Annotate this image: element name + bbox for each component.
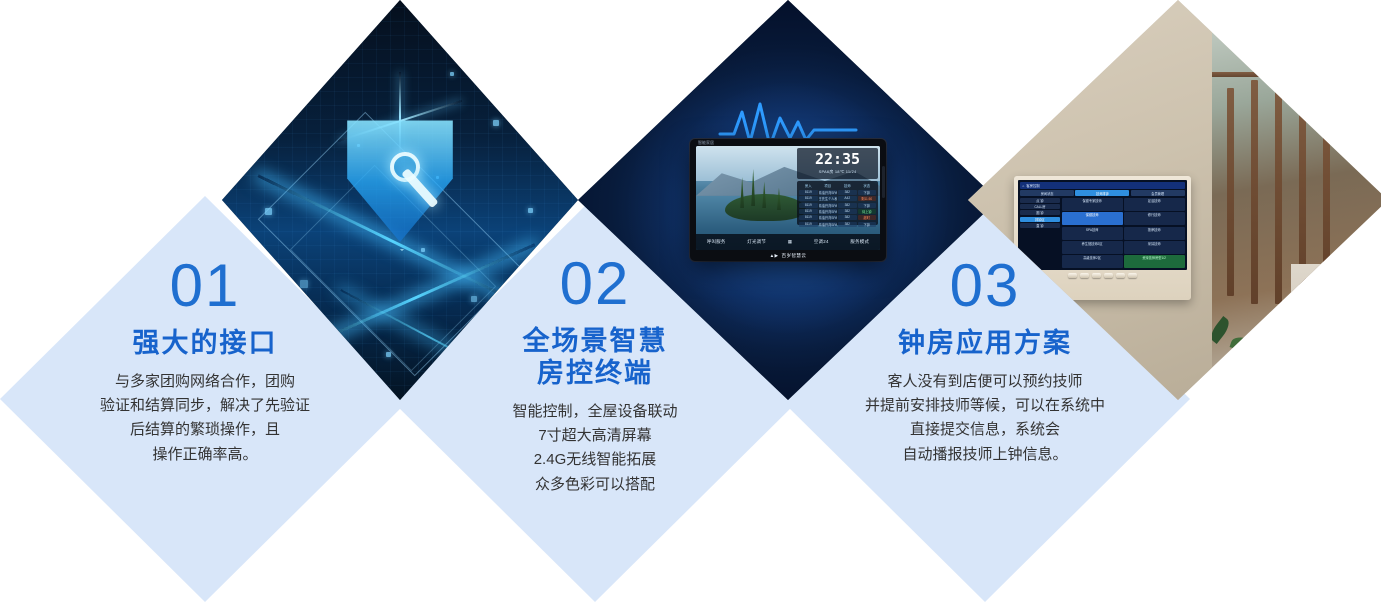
home-icon: ⌂: [1022, 184, 1024, 188]
cell: 8119: [799, 190, 817, 195]
feature-diamond-board: 01 强大的接口 与多家团购网络合作，团购 验证和结算同步，解决了先验证 后结算…: [0, 0, 1381, 603]
action-aircon[interactable]: 空调24: [814, 239, 829, 245]
cell: 382: [838, 190, 856, 195]
side-item[interactable]: 圈 钟: [1020, 210, 1059, 215]
panel-tabs[interactable]: 房间状态 技师排钟 会员管理: [1020, 190, 1184, 196]
grid-item-selected[interactable]: 保健技师: [1062, 212, 1123, 225]
cell: 382: [838, 209, 856, 214]
grid-item[interactable]: 高级技师2区: [1062, 255, 1123, 268]
table-row: 8119 精油开背SPA 382 下钟: [799, 190, 876, 195]
tablet-brand: ▲▶ 百岁智慧云: [690, 251, 886, 260]
cell: 382: [838, 222, 856, 227]
cell: 8119: [799, 222, 817, 227]
cell: A42: [838, 196, 856, 201]
action-call-service[interactable]: 呼叫服务: [707, 239, 726, 245]
panel-titlebar: ⌂ 客房控制: [1020, 182, 1184, 189]
cell: 精油开背SPA: [819, 215, 837, 220]
panel-tab[interactable]: 会员管理: [1131, 190, 1185, 196]
table-row: 8119 精油开背SPA 382 下钟: [799, 203, 876, 208]
shield-glyph: [340, 110, 460, 242]
table-header-cell: 房入: [799, 183, 817, 188]
table-row: 8119 精油开背SPA 382 下钟: [799, 222, 876, 227]
cell: 8119: [799, 203, 817, 208]
grid-item-highlight[interactable]: 资深技师房型1/2: [1124, 255, 1185, 268]
cell: 382: [838, 215, 856, 220]
cell: 剩11:50: [858, 196, 876, 201]
grid-item[interactable]: 修行技师: [1124, 212, 1185, 225]
feature-description: 客人没有到店便可以预约技师 并提前安排技师等候，可以在系统中 直接提交信息，系统…: [865, 370, 1105, 467]
panel-button[interactable]: [1128, 273, 1137, 278]
grid-item[interactable]: 足浴技师: [1124, 198, 1185, 211]
panel-tab[interactable]: 房间状态: [1020, 190, 1074, 196]
feature-number: 03: [950, 256, 1021, 316]
feature-description: 智能控制，全屋设备联动 7寸超大高清屏幕 2.4G无线智能拓展 众多色彩可以搭配: [512, 400, 677, 497]
feature-title: 钟房应用方案: [898, 328, 1072, 360]
room-control-tablet[interactable]: 智能家居 22:35 SPA6房 18: [690, 139, 886, 261]
home-grid-icon[interactable]: ▦: [788, 239, 792, 245]
side-item[interactable]: CALL房: [1020, 204, 1059, 209]
grid-item[interactable]: 采耳技师: [1124, 241, 1185, 254]
cell: 精油开背SPA: [819, 203, 837, 208]
panel-button[interactable]: [1080, 273, 1089, 278]
clock-time: 22:35: [815, 152, 860, 167]
clock-subinfo: SPA6房 18℃ 11/24: [819, 169, 857, 175]
panel-tab-selected[interactable]: 技师排钟: [1075, 190, 1129, 196]
corridor-window: [1186, 0, 1381, 400]
feature-title: 强大的接口: [133, 328, 278, 360]
cell: 王先生个人私密护理: [819, 196, 837, 201]
table-row: 8119 王先生个人私密护理 A42 剩11:50: [799, 196, 876, 201]
clock-widget: 22:35 SPA6房 18℃ 11/24: [797, 148, 878, 179]
side-item[interactable]: 直 钟: [1020, 223, 1059, 228]
action-light-control[interactable]: 灯光调节: [747, 239, 766, 245]
side-item-selected[interactable]: 排钟区: [1020, 217, 1059, 222]
cell: 待上钟: [858, 209, 876, 214]
cell: 精油开背SPA: [819, 222, 837, 227]
feature-title: 全场景智慧 房控终端: [523, 326, 668, 390]
cell: 下钟: [858, 203, 876, 208]
panel-button[interactable]: [1068, 273, 1077, 278]
cell: 下钟: [858, 190, 876, 195]
grid-item[interactable]: 养生馆技师2区: [1062, 241, 1123, 254]
grid-item[interactable]: 按摩技师: [1124, 227, 1185, 240]
cell: 382: [838, 203, 856, 208]
service-table: 房入 项目 技师 状态 8119 精油开背SPA 382 下钟 8119: [797, 181, 878, 225]
tablet-screen[interactable]: 22:35 SPA6房 18℃ 11/24 房入 项目 技师 状态 8119 精: [696, 146, 880, 250]
table-header-cell: 状态: [858, 183, 876, 188]
cell: 精油开背SPA: [819, 209, 837, 214]
tablet-side-strip: [882, 166, 885, 198]
panel-button[interactable]: [1092, 273, 1101, 278]
grid-item[interactable]: SPA技师: [1062, 227, 1123, 240]
feature-number: 01: [170, 256, 241, 316]
cell: 8119: [799, 196, 817, 201]
side-item[interactable]: 点 钟: [1020, 198, 1059, 203]
panel-grid[interactable]: 保健专家技师 足浴技师 保健技师 修行技师 SPA技师 按摩技师 养生馆技师2区…: [1062, 198, 1185, 268]
table-header-cell: 技师: [838, 183, 856, 188]
brand-logo-icon: ▲▶: [770, 253, 779, 259]
feature-description: 与多家团购网络合作，团购 验证和结算同步，解决了先验证 后结算的繁琐操作，且 操…: [100, 370, 310, 467]
cell: 8119: [799, 215, 817, 220]
panel-screen[interactable]: ⌂ 客房控制 房间状态 技师排钟 会员管理 点 钟 CALL房 圈 钟 排钟区: [1018, 180, 1186, 270]
panel-button[interactable]: [1104, 273, 1113, 278]
table-row: 8119 精油开背SPA 382 待上钟: [799, 209, 876, 214]
table-row: 8119 精油开背SPA 382 超时: [799, 215, 876, 220]
cell: 超时: [858, 215, 876, 220]
cell: 8119: [799, 209, 817, 214]
panel-button[interactable]: [1116, 273, 1125, 278]
table-header-cell: 项目: [819, 183, 837, 188]
cell: 下钟: [858, 222, 876, 227]
tablet-action-bar[interactable]: 呼叫服务 灯光调节 ▦ 空调24 服务模式: [696, 234, 880, 250]
grid-item[interactable]: 保健专家技师: [1062, 198, 1123, 211]
feature-number: 02: [560, 254, 631, 314]
brand-name: 百岁智慧云: [781, 253, 806, 259]
cell: 精油开背SPA: [819, 190, 837, 195]
action-service-mode[interactable]: 服务模式: [850, 239, 869, 245]
panel-title: 客房控制: [1026, 183, 1040, 188]
table-header-row: 房入 项目 技师 状态: [799, 183, 876, 188]
